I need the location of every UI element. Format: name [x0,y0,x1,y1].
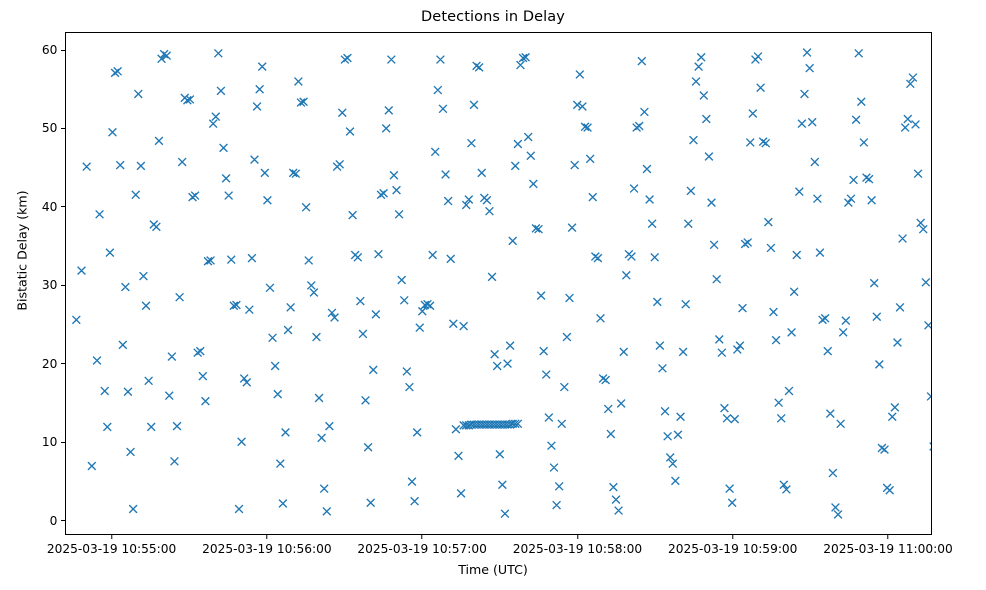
x-tick: 2025-03-19 10:57:00 [357,535,486,556]
y-tick-label: 40 [42,201,62,213]
x-tick: 2025-03-19 10:59:00 [668,535,797,556]
x-tick-label: 2025-03-19 11:00:00 [823,542,952,556]
scatter-points [72,49,931,519]
x-tick-mark [111,535,112,539]
plot-area[interactable] [65,32,932,535]
x-tick: 2025-03-19 10:58:00 [513,535,642,556]
x-tick: 2025-03-19 11:00:00 [823,535,952,556]
x-tick-mark [422,535,423,539]
figure-canvas: Detections in Delay Bistatic Delay (km) … [0,0,986,590]
y-tick-label: 60 [42,44,62,56]
page-title: Detections in Delay [0,9,986,25]
x-tick-label: 2025-03-19 10:59:00 [668,542,797,556]
x-axis-label: Time (UTC) [0,562,986,577]
x-tick: 2025-03-19 10:55:00 [47,535,176,556]
y-axis-label: Bistatic Delay (km) [15,121,30,381]
x-tick-label: 2025-03-19 10:55:00 [47,542,176,556]
y-tick-label: 10 [42,436,62,448]
y-tick-label: 0 [50,515,62,527]
x-tick-label: 2025-03-19 10:57:00 [357,542,486,556]
x-tick-mark [887,535,888,539]
x-tick-label: 2025-03-19 10:58:00 [513,542,642,556]
scatter-series [66,33,931,534]
x-tick-mark [577,535,578,539]
x-tick-label: 2025-03-19 10:56:00 [202,542,331,556]
y-tick-label: 20 [42,358,62,370]
x-tick: 2025-03-19 10:56:00 [202,535,331,556]
y-tick-label: 50 [42,122,62,134]
x-tick-mark [266,535,267,539]
y-tick-label: 30 [42,279,62,291]
x-tick-mark [732,535,733,539]
